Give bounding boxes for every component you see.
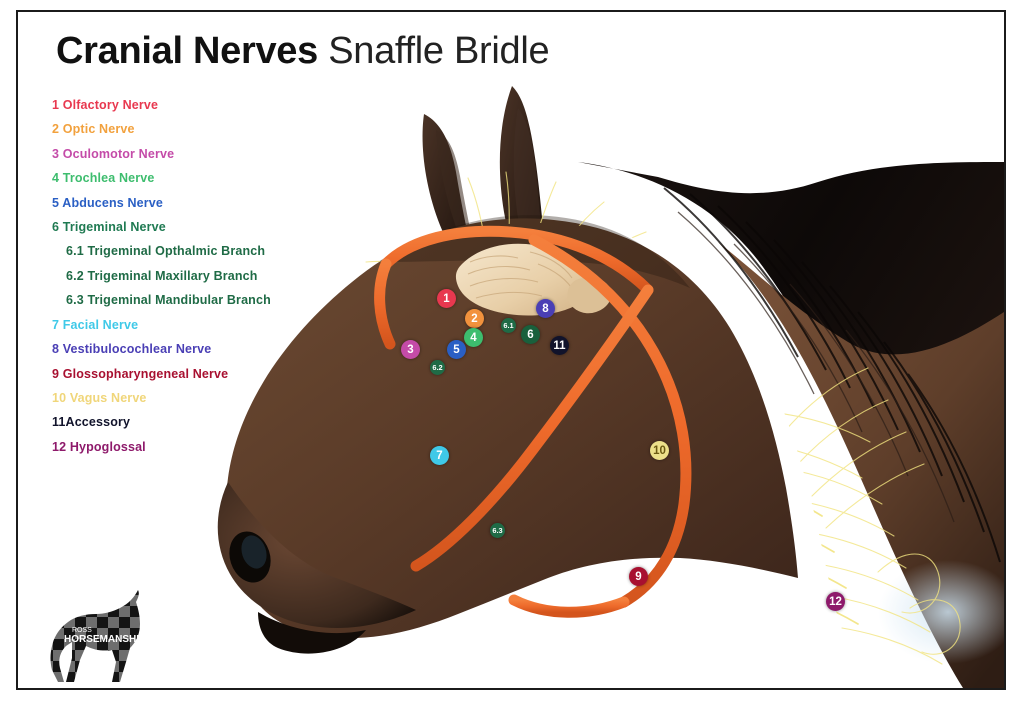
legend-item-3[interactable]: 3 Oculomotor Nerve xyxy=(52,147,352,162)
legend-item-1[interactable]: 1 Olfactory Nerve xyxy=(52,98,352,113)
legend-item-6-2[interactable]: 6.2 Trigeminal Maxillary Branch xyxy=(66,269,352,284)
legend-item-9[interactable]: 9 Glossopharyngeneal Nerve xyxy=(52,367,352,382)
marker-5[interactable]: 5 xyxy=(447,340,466,359)
nerve-legend-list: 1 Olfactory Nerve 2 Optic Nerve3 Oculomo… xyxy=(52,98,352,464)
marker-7[interactable]: 7 xyxy=(430,446,449,465)
marker-12[interactable]: 12 xyxy=(826,592,845,611)
legend-item-6[interactable]: 6 Trigeminal Nerve xyxy=(52,220,352,235)
marker-9[interactable]: 9 xyxy=(629,567,648,586)
title-bold: Cranial Nerves xyxy=(56,30,318,72)
legend-item-4[interactable]: 4 Trochlea Nerve xyxy=(52,171,352,186)
legend-item-12[interactable]: 12 Hypoglossal xyxy=(52,440,352,455)
legend-item-2[interactable]: 2 Optic Nerve xyxy=(52,122,352,137)
logo-top-text: ROSS xyxy=(72,627,92,634)
legend-item-8[interactable]: 8 Vestibulocochlear Nerve xyxy=(52,342,352,357)
logo-main-text: HORSEMANSHIP xyxy=(64,634,146,645)
legend-item-7[interactable]: 7 Facial Nerve xyxy=(52,318,352,333)
page-title: Cranial Nerves Snaffle Bridle xyxy=(56,28,549,74)
marker-6-1[interactable]: 6.1 xyxy=(501,318,516,333)
marker-1[interactable]: 1 xyxy=(437,289,456,308)
marker-10[interactable]: 10 xyxy=(650,441,669,460)
marker-6[interactable]: 6 xyxy=(521,325,540,344)
marker-8[interactable]: 8 xyxy=(536,299,555,318)
legend-item-6-1[interactable]: 6.1 Trigeminal Opthalmic Branch xyxy=(66,244,352,259)
marker-4[interactable]: 4 xyxy=(464,328,483,347)
legend-item-6-3[interactable]: 6.3 Trigeminal Mandibular Branch xyxy=(66,293,352,308)
legend-item-10[interactable]: 10 Vagus Nerve xyxy=(52,391,352,406)
website-url[interactable]: www.rosscooperofficial.co.uk xyxy=(136,687,305,690)
poster-root: .nv{fill:none;stroke:#f2e480;stroke-line… xyxy=(0,0,1024,701)
legend-item-11[interactable]: 11Accessory xyxy=(52,415,352,430)
brand-logo: ROSS HORSEMANSHIP xyxy=(42,584,152,684)
marker-6-2[interactable]: 6.2 xyxy=(430,360,445,375)
legend-item-5[interactable]: 5 Abducens Nerve xyxy=(52,196,352,211)
marker-2[interactable]: 2 xyxy=(465,309,484,328)
marker-11[interactable]: 11 xyxy=(550,336,569,355)
marker-3[interactable]: 3 xyxy=(401,340,420,359)
poster-frame: .nv{fill:none;stroke:#f2e480;stroke-line… xyxy=(16,10,1006,690)
title-light: Snaffle Bridle xyxy=(318,30,549,72)
marker-6-3[interactable]: 6.3 xyxy=(490,523,505,538)
